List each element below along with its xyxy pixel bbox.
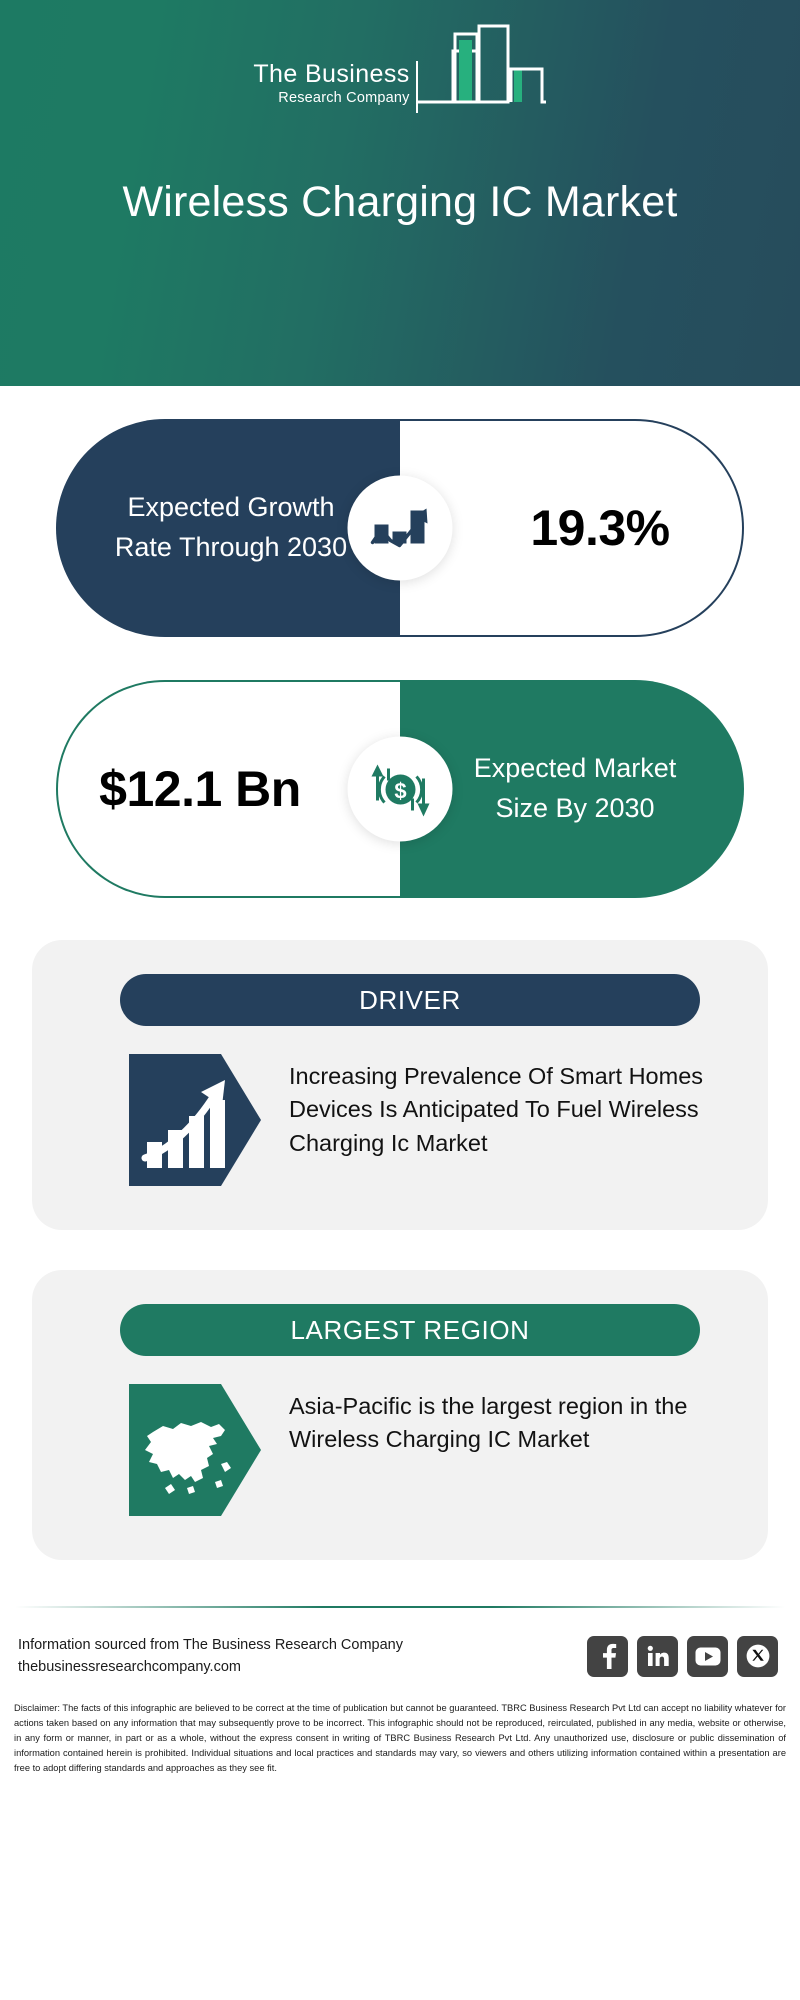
stat-value: $12.1 Bn xyxy=(99,760,301,819)
stat-label: Expected Market Size By 2030 xyxy=(448,749,702,829)
driver-heading-pill: DRIVER xyxy=(120,974,700,1026)
disclaimer-text: Disclaimer: The facts of this infographi… xyxy=(14,1701,786,1776)
page-title: Wireless Charging IC Market xyxy=(0,178,800,227)
infographic-page: The Business Research Company Wir xyxy=(0,0,800,2000)
region-heading-pill: LARGEST REGION xyxy=(120,1304,700,1356)
linkedin-icon[interactable] xyxy=(637,1636,678,1677)
region-body: Asia-Pacific is the largest region in th… xyxy=(32,1384,768,1516)
facebook-icon[interactable] xyxy=(587,1636,628,1677)
logo-bar-chart-icon xyxy=(417,22,547,113)
region-heading: LARGEST REGION xyxy=(290,1315,529,1346)
asia-map-icon xyxy=(129,1384,261,1516)
footer-source-line-1: Information sourced from The Business Re… xyxy=(18,1634,403,1656)
footer-source: Information sourced from The Business Re… xyxy=(18,1634,403,1679)
growth-chart-arrow-icon xyxy=(348,476,453,581)
svg-text:$: $ xyxy=(394,778,406,803)
stat-card-growth-rate: Expected Growth Rate Through 2030 19.3% xyxy=(56,419,744,637)
stat-card-market-size: $12.1 Bn Expected Market Size By 2030 $ xyxy=(56,680,744,898)
region-text: Asia-Pacific is the largest region in th… xyxy=(289,1384,708,1457)
youtube-icon[interactable] xyxy=(687,1636,728,1677)
driver-panel: DRIVER Increasing Prevalence Of Smart Ho… xyxy=(32,940,768,1230)
footer-website-link[interactable]: thebusinessresearchcompany.com xyxy=(18,1656,403,1678)
header-banner: The Business Research Company Wir xyxy=(0,0,800,386)
social-links xyxy=(587,1636,778,1677)
driver-text: Increasing Prevalence Of Smart Homes Dev… xyxy=(289,1054,708,1160)
x-twitter-icon[interactable] xyxy=(737,1636,778,1677)
logo-line-2: Research Company xyxy=(278,87,415,107)
logo-line-1: The Business xyxy=(253,61,415,87)
company-logo: The Business Research Company xyxy=(0,22,800,113)
logo-wordmark: The Business Research Company xyxy=(253,61,417,113)
footer: Information sourced from The Business Re… xyxy=(0,1608,800,1679)
stat-value: 19.3% xyxy=(530,499,669,557)
stat-label: Expected Growth Rate Through 2030 xyxy=(102,488,360,568)
driver-body: Increasing Prevalence Of Smart Homes Dev… xyxy=(32,1054,768,1186)
driver-heading: DRIVER xyxy=(359,985,461,1016)
largest-region-panel: LARGEST REGION Asia-Pacific is the large… xyxy=(32,1270,768,1560)
dollar-cycle-icon: $ xyxy=(348,737,453,842)
growth-bars-arrow-icon xyxy=(129,1054,261,1186)
